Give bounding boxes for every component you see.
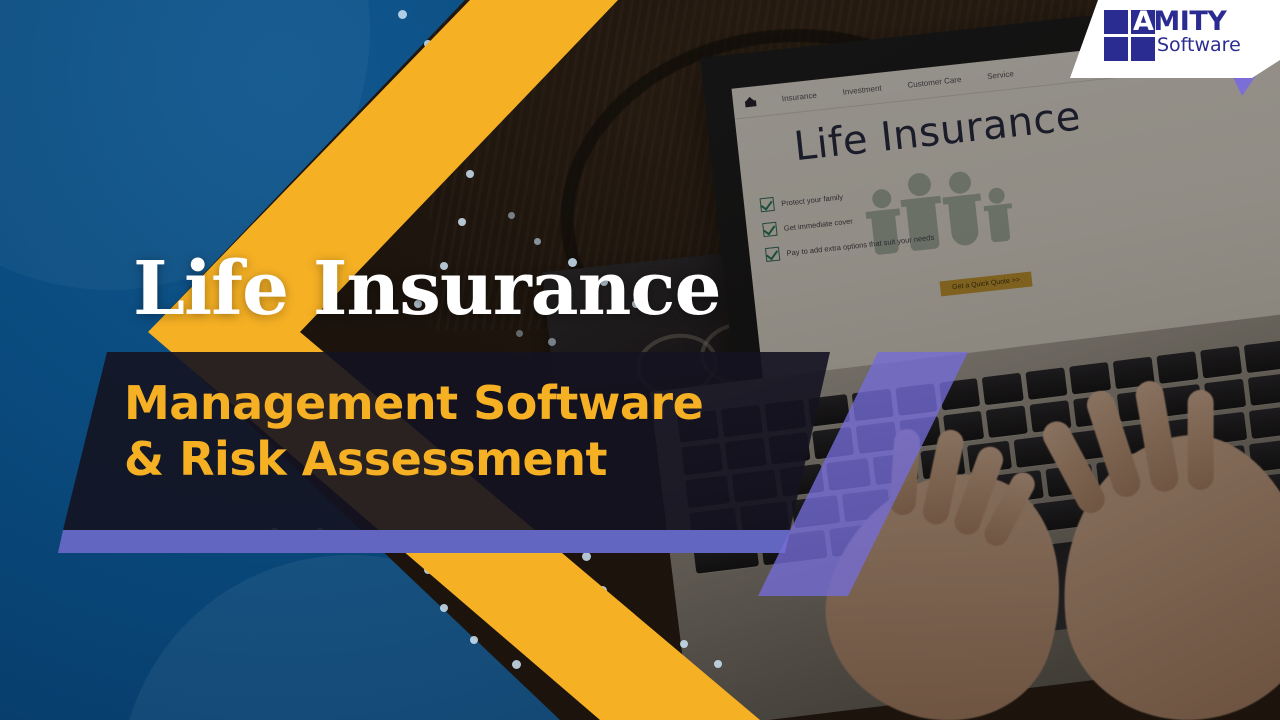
- page-subtitle: Management Software & Risk Assessment: [124, 375, 824, 487]
- logo-lockup: AMITY Software: [1104, 8, 1241, 61]
- logo-wordmark: AMITY Software: [1133, 8, 1241, 56]
- banner-image: Insurance Investment Customer Care Servi…: [0, 0, 1280, 720]
- subtitle-line-2: & Risk Assessment: [124, 431, 824, 487]
- subtitle-line-1: Management Software: [124, 376, 703, 430]
- logo-name-secondary: Software: [1157, 36, 1241, 56]
- logo-name-primary: AMITY: [1133, 8, 1241, 35]
- logo-badge[interactable]: AMITY Software: [1070, 0, 1280, 78]
- purple-accent-band: [0, 530, 880, 553]
- page-title: Life Insurance: [133, 252, 721, 326]
